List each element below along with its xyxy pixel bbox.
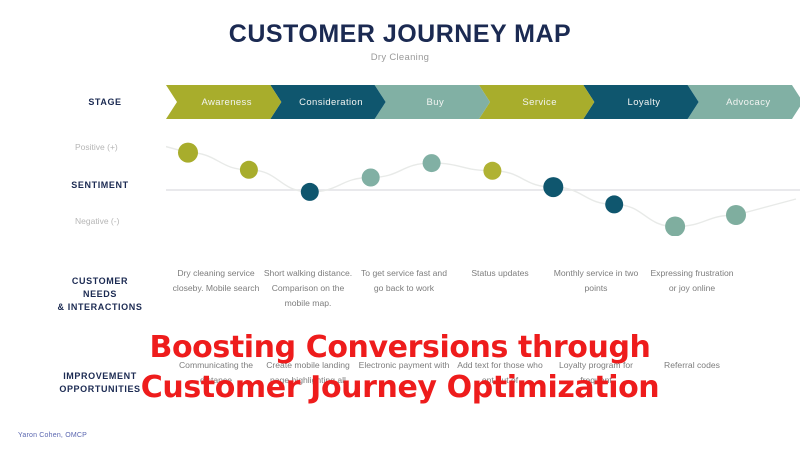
axis-label-negative: Negative (-): [75, 216, 119, 226]
sentiment-point-9[interactable]: [665, 217, 685, 237]
overlay-headline-line1: Boosting Conversions through: [0, 328, 800, 368]
sentiment-point-7[interactable]: [543, 177, 563, 197]
stage-chevron-service[interactable]: Service: [479, 85, 594, 119]
stage-chevron-label: Loyalty: [622, 97, 661, 108]
page-title: CUSTOMER JOURNEY MAP: [0, 20, 800, 49]
author-credit: Yaron Cohen, OMCP: [18, 432, 87, 439]
customer-needs-cell-service: Status updates: [454, 266, 546, 281]
sentiment-point-2[interactable]: [240, 161, 258, 179]
customer-needs-cell-consideration: Short walking distance. Comparison on th…: [262, 266, 354, 311]
sentiment-point-3[interactable]: [301, 183, 319, 201]
overlay-headline-line2: Customer Journey Optimization: [0, 368, 800, 408]
stage-chevron-label: Service: [516, 97, 556, 108]
row-label-needs-line1: CUSTOMER: [40, 275, 160, 288]
stage-chevron-buy[interactable]: Buy: [375, 85, 490, 119]
page-subtitle: Dry Cleaning: [0, 52, 800, 63]
customer-needs-cell-loyalty: Monthly service in two points: [550, 266, 642, 296]
sentiment-point-4[interactable]: [362, 169, 380, 187]
sentiment-point-5[interactable]: [423, 154, 441, 172]
sentiment-point-10[interactable]: [726, 205, 746, 225]
row-label-stage: STAGE: [55, 96, 155, 109]
customer-needs-cell-awareness: Dry cleaning service closeby. Mobile sea…: [170, 266, 262, 296]
row-label-needs-line3: & INTERACTIONS: [40, 301, 160, 314]
customer-needs-cell-advocacy: Expressing frustration or joy online: [646, 266, 738, 296]
stage-chevron-row: AwarenessConsiderationBuyServiceLoyaltyA…: [166, 85, 792, 119]
stage-chevron-label: Advocacy: [720, 97, 770, 108]
customer-needs-cell-buy: To get service fast and go back to work: [358, 266, 450, 296]
axis-label-positive: Positive (+): [75, 142, 118, 152]
stage-chevron-advocacy[interactable]: Advocacy: [688, 85, 800, 119]
sentiment-point-8[interactable]: [605, 195, 623, 213]
customer-journey-map-slide: CUSTOMER JOURNEY MAP Dry Cleaning STAGE …: [0, 0, 800, 450]
stage-chevron-label: Consideration: [293, 97, 363, 108]
stage-chevron-label: Buy: [421, 97, 445, 108]
sentiment-point-6[interactable]: [483, 162, 501, 180]
stage-chevron-loyalty[interactable]: Loyalty: [583, 85, 698, 119]
row-label-customer-needs: CUSTOMER NEEDS & INTERACTIONS: [40, 275, 160, 314]
sentiment-point-1[interactable]: [178, 143, 198, 163]
overlay-headline: Boosting Conversions through Customer Jo…: [0, 328, 800, 408]
stage-chevron-awareness[interactable]: Awareness: [166, 85, 281, 119]
stage-chevron-label: Awareness: [195, 97, 251, 108]
stage-chevron-consideration[interactable]: Consideration: [270, 85, 385, 119]
row-label-sentiment: SENTIMENT: [45, 179, 155, 192]
row-label-needs-line2: NEEDS: [40, 288, 160, 301]
sentiment-chart: [166, 126, 800, 236]
